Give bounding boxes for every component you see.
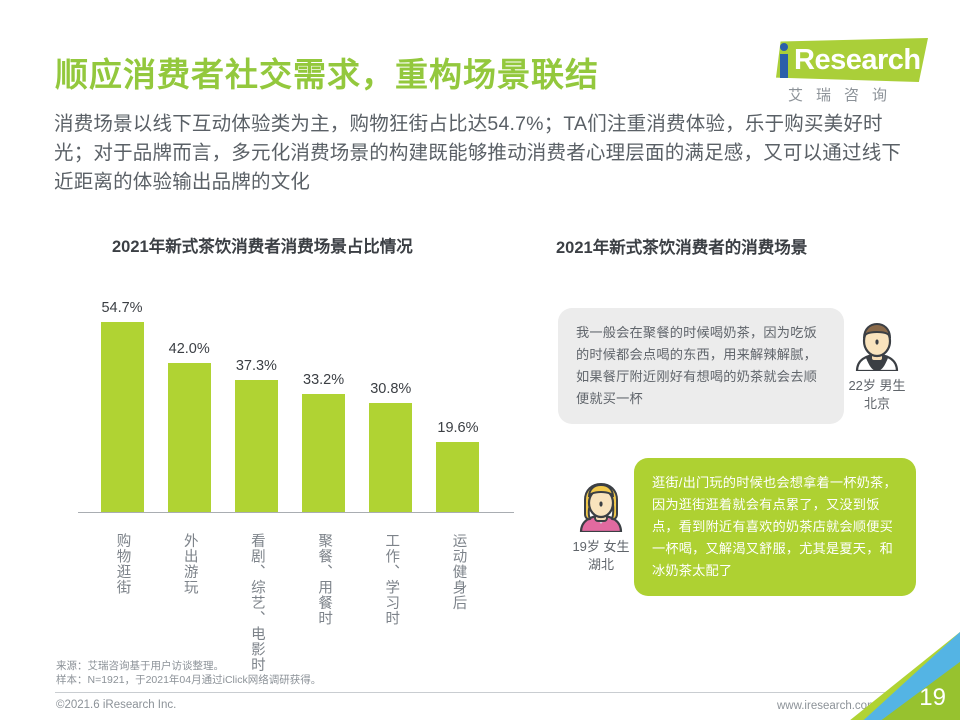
category-label: 购物逛街: [114, 533, 131, 673]
quote-person: 19岁 女生 湖北: [568, 480, 634, 574]
quote-bubble: 逛街/出门玩的时候也会想拿着一杯奶茶，因为逛街逛着就会有点累了，又没到饭点，看到…: [634, 458, 916, 596]
source-note: 来源：艾瑞咨询基于用户访谈整理。 样本：N=1921，于2021年04月通过iC…: [56, 659, 321, 687]
bar-rect: [302, 394, 345, 512]
category-label: 聚餐、用餐时: [315, 533, 332, 673]
bar-chart: 54.7% 42.0% 37.3% 33.2% 30.8% 19.6% 购物逛街…: [66, 285, 514, 530]
logo-i-stem-icon: [780, 54, 788, 78]
logo-chinese-name: 艾瑞咨询: [788, 84, 900, 105]
logo-i-dot-icon: [780, 43, 788, 51]
bar-item: 30.8%: [369, 300, 413, 512]
male-avatar-icon: [851, 319, 903, 371]
bar-rect: [101, 322, 144, 512]
bar-item: 19.6%: [436, 300, 480, 512]
person-meta: 19岁 女生 湖北: [572, 538, 629, 574]
source-line-2: 样本：N=1921，于2021年04月通过iClick网络调研获得。: [56, 673, 321, 687]
female-avatar-icon: [575, 480, 627, 532]
source-line-1: 来源：艾瑞咨询基于用户访谈整理。: [56, 659, 321, 673]
category-cell: 运动健身后: [436, 533, 480, 673]
bar-rect: [436, 442, 479, 512]
copyright-text: ©2021.6 iResearch Inc.: [56, 699, 176, 711]
chart-title: 2021年新式茶饮消费者消费场景占比情况: [112, 233, 413, 257]
quote-card-female: 19岁 女生 湖北 逛街/出门玩的时候也会想拿着一杯奶茶，因为逛街逛着就会有点累…: [568, 458, 916, 596]
category-cell: 聚餐、用餐时: [302, 533, 346, 673]
bar-value-label: 42.0%: [169, 341, 210, 357]
category-cell: 看剧、综艺、电影时: [234, 533, 278, 673]
iresearch-logo: Research 艾瑞咨询: [762, 38, 932, 110]
bar-item: 37.3%: [234, 300, 278, 512]
category-cell: 工作、学习时: [369, 533, 413, 673]
category-label: 工作、学习时: [382, 533, 399, 673]
chart-category-labels: 购物逛街 外出游玩 看剧、综艺、电影时 聚餐、用餐时 工作、学习时 运动健身后: [66, 533, 514, 673]
page-subtitle: 消费场景以线下互动体验类为主，购物狂街占比达54.7%；TA们注重消费体验，乐于…: [54, 110, 914, 197]
quotes-panel-title: 2021年新式茶饮消费者的消费场景: [556, 234, 807, 258]
bar-rect: [369, 403, 412, 512]
bar-value-label: 19.6%: [437, 420, 478, 436]
bar-series: 54.7% 42.0% 37.3% 33.2% 30.8% 19.6%: [66, 300, 514, 512]
bar-rect: [235, 380, 278, 512]
category-label: 看剧、综艺、电影时: [248, 533, 265, 673]
bar-value-label: 54.7%: [101, 300, 142, 316]
person-city: 湖北: [572, 556, 629, 574]
bar-item: 54.7%: [100, 300, 144, 512]
person-city: 北京: [848, 395, 905, 413]
category-cell: 外出游玩: [167, 533, 211, 673]
quote-card-male: 我一般会在聚餐的时候喝奶茶，因为吃饭的时候都会点喝的东西，用来解辣解腻，如果餐厅…: [558, 308, 910, 424]
person-age-gender: 22岁 男生: [848, 377, 905, 395]
bar-value-label: 30.8%: [370, 381, 411, 397]
chart-x-axis: [78, 512, 514, 514]
page-number: 19: [919, 684, 946, 712]
category-label: 外出游玩: [181, 533, 198, 673]
bar-item: 42.0%: [167, 300, 211, 512]
bar-value-label: 37.3%: [236, 358, 277, 374]
category-label: 运动健身后: [449, 533, 466, 673]
logo-wordmark: Research: [794, 44, 921, 77]
person-age-gender: 19岁 女生: [572, 538, 629, 556]
page-title: 顺应消费者社交需求，重构场景联结: [55, 48, 599, 96]
bar-item: 33.2%: [302, 300, 346, 512]
footer-divider: [55, 692, 905, 693]
quote-person: 22岁 男生 北京: [844, 319, 910, 413]
bar-rect: [168, 363, 211, 512]
bar-value-label: 33.2%: [303, 372, 344, 388]
person-meta: 22岁 男生 北京: [848, 377, 905, 413]
category-cell: 购物逛街: [100, 533, 144, 673]
quote-bubble: 我一般会在聚餐的时候喝奶茶，因为吃饭的时候都会点喝的东西，用来解辣解腻，如果餐厅…: [558, 308, 844, 424]
